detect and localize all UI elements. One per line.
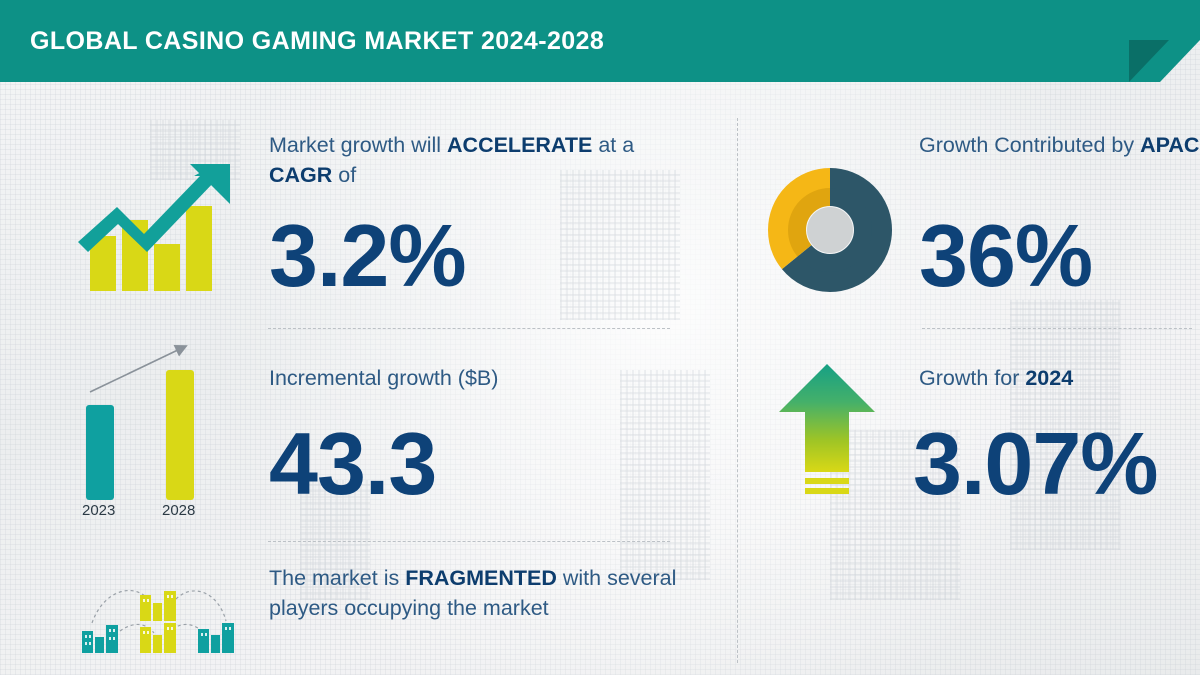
apac-caption: Growth Contributed by APAC <box>919 130 1200 160</box>
apac-value: 36% <box>919 212 1092 300</box>
bar-label-2023: 2023 <box>82 502 115 519</box>
bar-comparison-icon: 2023 2028 <box>62 330 242 525</box>
cagr-caption-accelerate: ACCELERATE <box>447 133 592 157</box>
cagr-caption-p1: Market growth will <box>269 133 447 157</box>
infographic-content: Market growth will ACCELERATE at a CAGR … <box>0 0 1200 675</box>
fragmentation-caption: The market is FRAGMENTED with several pl… <box>269 563 699 623</box>
growth2024-caption-year: 2024 <box>1025 366 1073 390</box>
horizontal-divider <box>268 328 670 329</box>
buildings-network-icon <box>68 565 248 660</box>
apac-caption-p1: Growth Contributed by <box>919 133 1140 157</box>
growth2024-caption-p1: Growth for <box>919 366 1025 390</box>
up-arrow-icon <box>775 360 880 505</box>
growth2024-caption: Growth for 2024 <box>919 363 1200 393</box>
cagr-caption: Market growth will ACCELERATE at a CAGR … <box>269 130 689 190</box>
cagr-value: 3.2% <box>269 212 466 300</box>
apac-caption-apac: APAC <box>1140 133 1199 157</box>
horizontal-divider <box>922 328 1192 329</box>
growth2024-value: 3.07% <box>913 420 1158 508</box>
incremental-value: 43.3 <box>269 420 436 508</box>
growth-chart-icon <box>72 158 242 303</box>
frag-caption-fragmented: FRAGMENTED <box>405 566 557 590</box>
page-title: GLOBAL CASINO GAMING MARKET 2024-2028 <box>30 27 604 56</box>
incremental-caption: Incremental growth ($B) <box>269 363 689 393</box>
cagr-caption-p3: of <box>332 163 356 187</box>
donut-chart-icon <box>765 165 895 295</box>
frag-caption-p1: The market is <box>269 566 405 590</box>
horizontal-divider <box>268 541 670 542</box>
vertical-divider <box>737 118 738 663</box>
bar-label-2028: 2028 <box>162 502 195 519</box>
cagr-caption-p2: at a <box>592 133 634 157</box>
cagr-caption-cagr: CAGR <box>269 163 332 187</box>
